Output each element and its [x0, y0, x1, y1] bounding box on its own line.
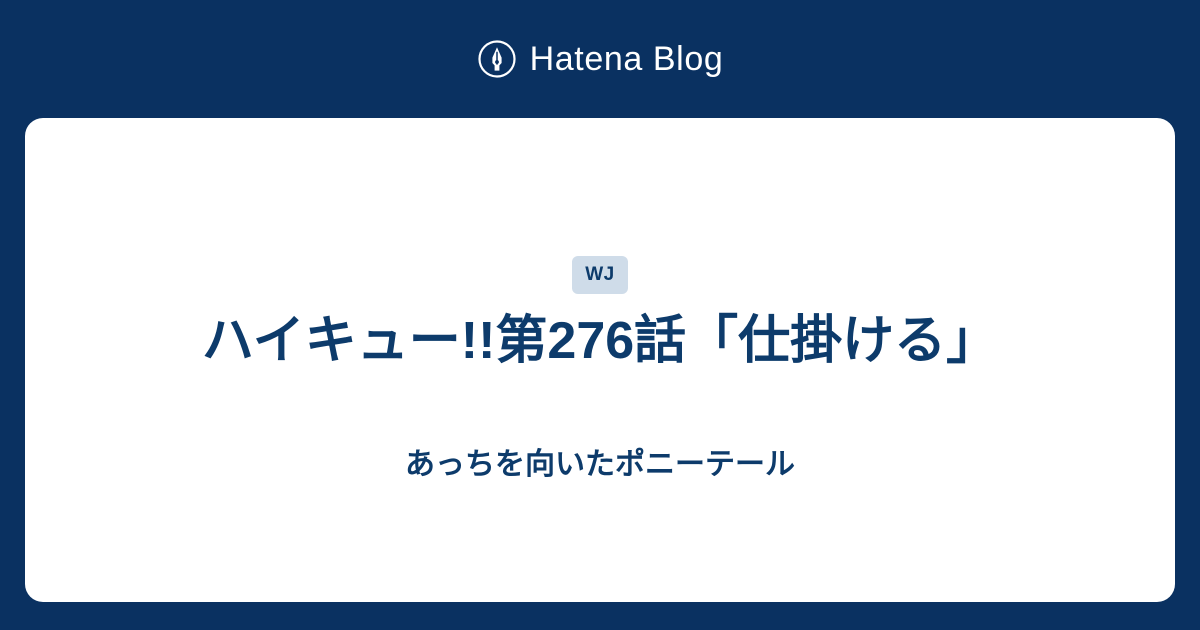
site-header: Hatena Blog	[0, 0, 1200, 118]
entry-card: WJ ハイキュー!!第276話「仕掛ける」 あっちを向いたポニーテール	[25, 118, 1175, 602]
category-badge[interactable]: WJ	[572, 256, 628, 294]
entry-title[interactable]: ハイキュー!!第276話「仕掛ける」	[202, 310, 998, 373]
brand-name[interactable]: Hatena Blog	[530, 42, 724, 76]
fountain-pen-nib-icon	[477, 39, 517, 79]
entry-card-content: WJ ハイキュー!!第276話「仕掛ける」 あっちを向いたポニーテール	[25, 118, 1175, 484]
blog-name[interactable]: あっちを向いたポニーテール	[405, 445, 795, 484]
